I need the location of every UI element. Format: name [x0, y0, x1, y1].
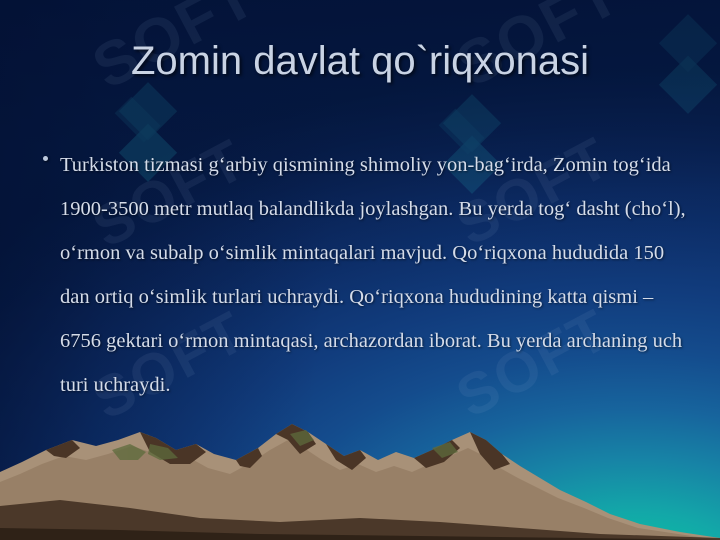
page-title: Zomin davlat qo`riqxonasi	[0, 38, 720, 84]
mountain-silhouette-graphic	[0, 410, 720, 540]
content-body: Turkiston tizmasi g‘arbiy qismining shim…	[36, 143, 686, 407]
slide-canvas: SOFT SOFT SOFT SOFT SOFT SOFT	[0, 0, 720, 540]
list-item: Turkiston tizmasi g‘arbiy qismining shim…	[36, 143, 686, 407]
list-item-label: Turkiston tizmasi g‘arbiy qismining shim…	[60, 143, 686, 407]
bullet-dot-icon	[36, 143, 60, 161]
